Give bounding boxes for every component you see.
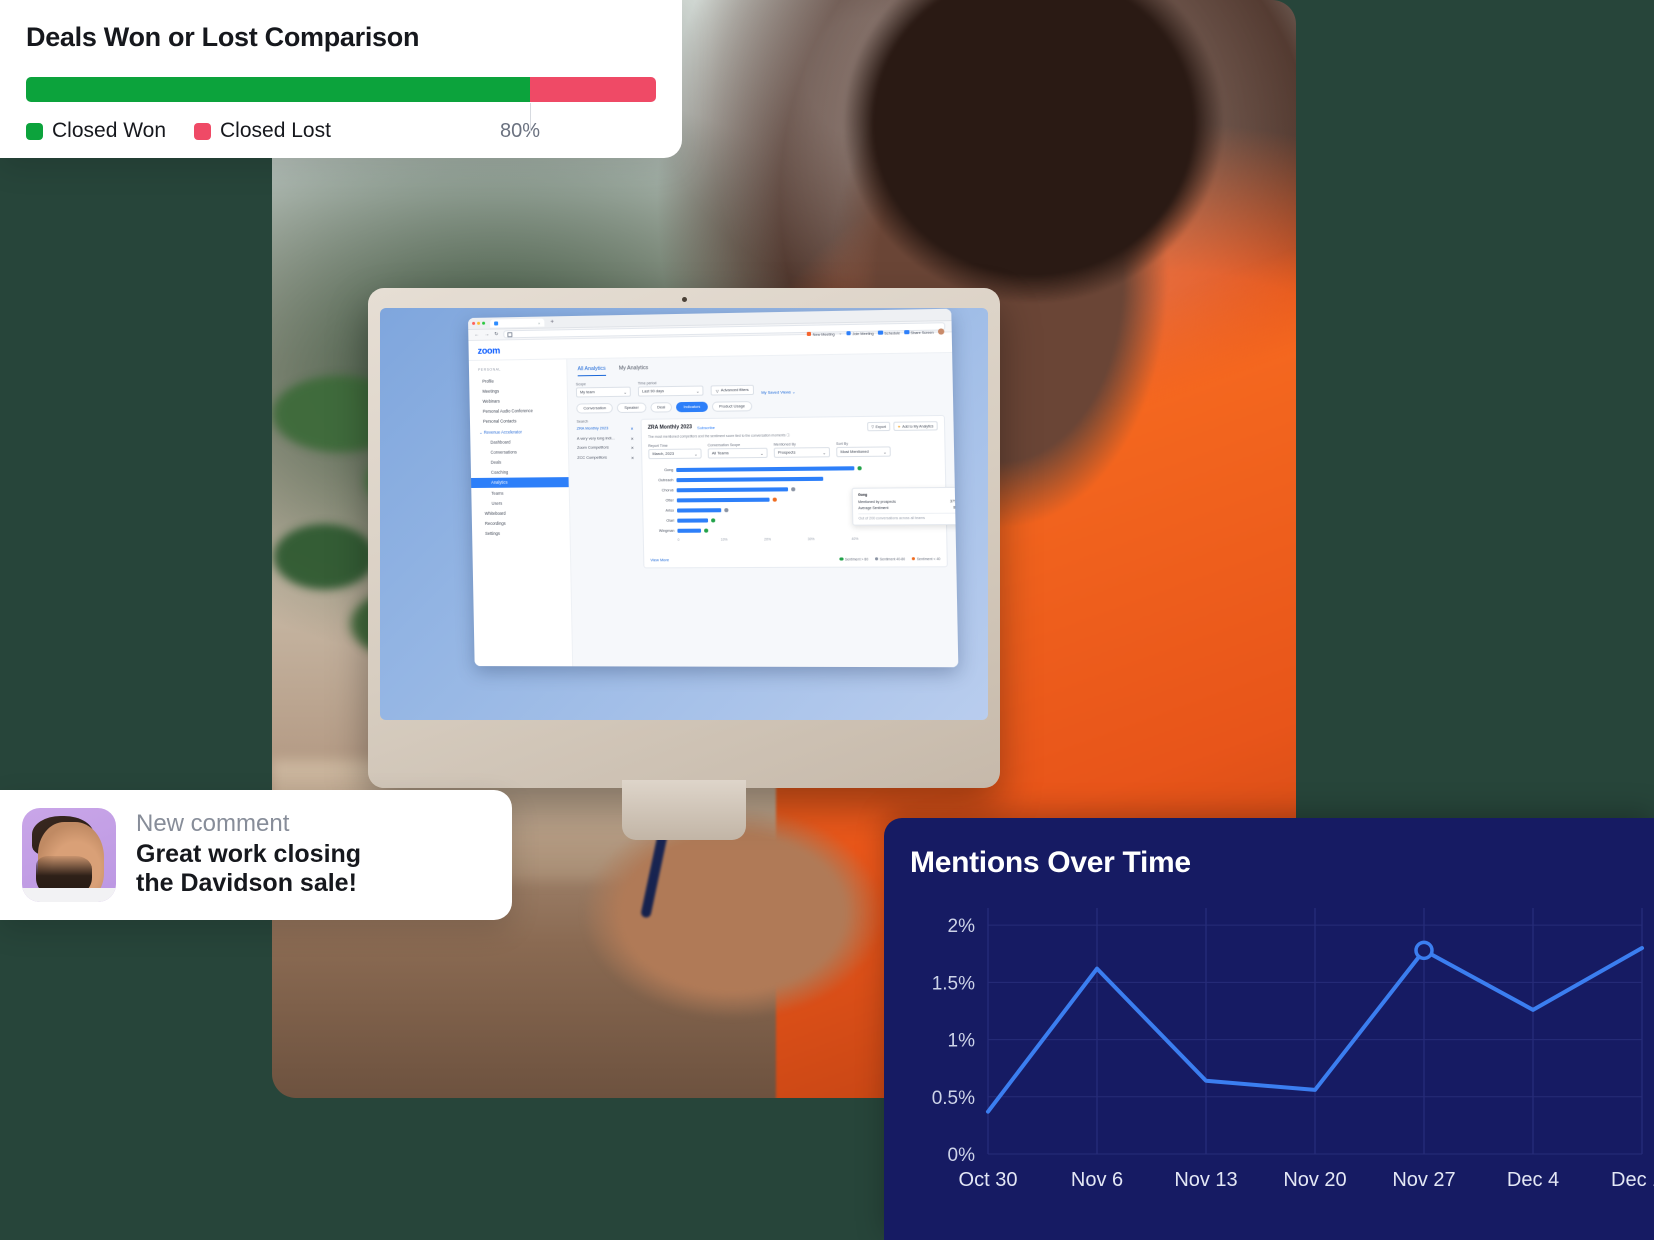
video-icon xyxy=(806,331,811,336)
conversation-scope-control: Conversation Scope All Teams⌄ xyxy=(708,442,768,458)
zoom-app-body: PERSONAL Profile Meetings Webinars Perso… xyxy=(469,353,959,667)
closed-won-segment xyxy=(26,77,530,102)
x-axis-tick-label: Nov 6 xyxy=(1071,1169,1123,1191)
tooltip-label: Mentioned by prospects xyxy=(858,499,896,503)
legend-item-closed-won: Closed Won xyxy=(26,119,166,143)
x-tick: 10% xyxy=(721,538,764,542)
chevron-down-icon: ⌄ xyxy=(696,389,699,394)
plus-square-icon xyxy=(846,331,851,336)
won-percentage-label: 80% xyxy=(500,120,540,143)
sort-by-select[interactable]: Most Mentioned⌄ xyxy=(836,447,891,458)
sidebar-group-label: Revenue Accelerator xyxy=(484,429,522,434)
closed-lost-segment xyxy=(530,77,656,102)
conversation-scope-label: Conversation Scope xyxy=(708,442,768,447)
percentage-tick-line xyxy=(530,103,531,133)
bar-fill[interactable] xyxy=(677,498,770,503)
quick-action-join-meeting[interactable]: Join Meeting xyxy=(846,330,874,336)
sort-by-control: Sort By Most Mentioned⌄ xyxy=(836,441,891,457)
bar-fill[interactable] xyxy=(676,477,823,483)
x-axis-tick-label: Nov 13 xyxy=(1174,1169,1237,1191)
time-period-value: Last 90 days xyxy=(642,390,664,394)
category-chips: Conversation Speaker Deal Indicators Pro… xyxy=(576,399,945,414)
bar-fill[interactable] xyxy=(677,518,708,523)
legend-dot-green xyxy=(840,557,844,560)
forward-icon[interactable]: → xyxy=(484,332,489,338)
chip-conversation[interactable]: Conversation xyxy=(576,403,613,414)
reload-icon[interactable]: ↻ xyxy=(494,331,498,337)
y-axis-tick-label: 0% xyxy=(948,1145,976,1166)
report-controls: Report Time March, 2023⌄ Conversation Sc… xyxy=(648,440,938,459)
tooltip-title: Gong xyxy=(858,492,957,497)
saved-views-link[interactable]: My Saved Views ⌄ xyxy=(761,387,795,396)
chip-indicators[interactable]: Indicators xyxy=(676,402,707,413)
bar-label: Gong xyxy=(649,468,677,472)
quick-action-share-screen[interactable]: Share Screen xyxy=(904,329,934,335)
avatar-shirt xyxy=(22,888,116,902)
sidebar: PERSONAL Profile Meetings Webinars Perso… xyxy=(469,359,573,667)
sidebar-item-whiteboard[interactable]: Whiteboard xyxy=(472,508,570,519)
mentions-line-chart-svg: 0%0.5%1%1.5%2%Oct 30Nov 6Nov 13Nov 20Nov… xyxy=(910,898,1654,1198)
mentions-over-time-card: Mentions Over Time 0%0.5%1%1.5%2%Oct 30N… xyxy=(884,818,1654,1240)
filter-icon: ▽ xyxy=(716,388,719,393)
sidebar-item-recordings[interactable]: Recordings xyxy=(472,518,570,529)
y-axis-tick-label: 1.5% xyxy=(932,973,975,994)
tooltip-row: Mentioned by prospects37% xyxy=(858,499,957,504)
won-lost-progress-bar xyxy=(26,77,656,102)
bar-label: Olari xyxy=(650,519,678,523)
mentioned-by-control: Mentioned By Prospects⌄ xyxy=(774,442,830,458)
browser-tab[interactable]: × xyxy=(490,318,544,327)
bar-fill[interactable] xyxy=(676,466,854,472)
comment-text-block: New comment Great work closing the David… xyxy=(136,811,361,899)
chevron-down-icon: ⌄ xyxy=(623,390,626,395)
x-tick: 30% xyxy=(808,537,852,541)
saved-search-item-long[interactable]: A very very long indi...✕ xyxy=(577,436,634,442)
report-actions: ▽Export ★Add to My Analytics xyxy=(867,422,938,432)
sentiment-dot xyxy=(857,466,861,470)
window-minimize-icon[interactable] xyxy=(477,322,480,325)
x-tick: 20% xyxy=(764,537,808,541)
desktop-monitor: × + ← → ↻ zoom New Meeting ⌄ Join Meetin… xyxy=(368,288,1000,788)
saved-search-item-zcc-competitors[interactable]: ZCC Competitors✕ xyxy=(577,455,634,461)
x-axis-tick-label: Dec 4 xyxy=(1507,1169,1559,1191)
remove-icon[interactable]: ✕ xyxy=(631,455,634,460)
scope-select[interactable]: My team⌄ xyxy=(576,387,631,398)
subscribe-link[interactable]: Subscribe xyxy=(697,425,715,430)
bar-fill[interactable] xyxy=(677,487,788,492)
quick-action-schedule[interactable]: Schedule xyxy=(878,330,900,336)
bar-label: Chorus xyxy=(649,488,677,492)
chevron-down-icon: ⌄ xyxy=(694,451,697,456)
time-period-label: Time period xyxy=(638,380,704,385)
new-meeting-caret[interactable]: ⌄ xyxy=(839,331,842,335)
sentiment-dot xyxy=(791,487,795,491)
view-more-link[interactable]: View More xyxy=(650,557,669,562)
star-icon: ★ xyxy=(897,425,900,429)
zoom-logo: zoom xyxy=(478,345,501,355)
saved-views-label: My Saved Views xyxy=(761,390,791,396)
share-icon xyxy=(904,330,909,335)
chevron-down-icon: ⌄ xyxy=(883,449,886,454)
legend-swatch-red xyxy=(194,123,211,140)
bar-fill[interactable] xyxy=(677,508,721,513)
legend-item-low: Sentiment < 40 xyxy=(911,557,940,561)
add-to-my-analytics-button[interactable]: ★Add to My Analytics xyxy=(893,422,938,432)
advanced-filters-label: Advanced filters xyxy=(721,388,749,392)
y-axis-tick-label: 0.5% xyxy=(932,1088,975,1109)
bar-tooltip: Gong Mentioned by prospects37% Average S… xyxy=(852,487,959,526)
x-axis-tick-label: Dec 11 xyxy=(1611,1169,1654,1191)
monitor-stand xyxy=(622,780,746,840)
legend-label-closed-won: Closed Won xyxy=(52,119,166,143)
mentioned-by-select[interactable]: Prospects⌄ xyxy=(774,447,830,458)
chip-product-usage[interactable]: Product Usage xyxy=(712,401,753,412)
new-tab-button[interactable]: + xyxy=(550,319,554,325)
chip-deal[interactable]: Deal xyxy=(650,403,672,413)
x-tick: 0 xyxy=(678,538,721,542)
bar-label: Outreach xyxy=(649,478,677,482)
chevron-down-icon: ⌄ xyxy=(822,450,825,455)
tooltip-row: Average Sentiment85 xyxy=(858,506,957,511)
report-time-control: Report Time March, 2023⌄ xyxy=(648,443,702,459)
bar-row: Wingman xyxy=(650,524,940,536)
report-time-select[interactable]: March, 2023⌄ xyxy=(648,449,701,460)
filter-row: Scope My team⌄ Time period Last 90 days⌄… xyxy=(576,377,945,398)
report-description: The most mentioned competitors and the s… xyxy=(648,430,938,439)
sentiment-legend: Sentiment > 80 Sentiment 40-80 Sentiment… xyxy=(840,557,941,562)
bar-fill[interactable] xyxy=(677,529,701,534)
tab-all-analytics[interactable]: All Analytics xyxy=(578,366,606,377)
sidebar-item-settings[interactable]: Settings xyxy=(472,528,570,539)
bar-label: Ariso xyxy=(649,509,677,513)
legend-dot-orange xyxy=(911,557,915,560)
chip-speaker[interactable]: Speaker xyxy=(617,403,646,413)
browser-window[interactable]: × + ← → ↻ zoom New Meeting ⌄ Join Meetin… xyxy=(468,309,958,668)
calendar-icon xyxy=(878,330,883,335)
tooltip-value: 37% xyxy=(950,499,957,503)
saved-search-item-zra-monthly[interactable]: ZRA Monthly 2023✕ xyxy=(577,426,634,432)
time-period-select[interactable]: Last 90 days⌄ xyxy=(638,386,704,397)
window-close-icon[interactable] xyxy=(472,322,475,325)
legend-label-closed-lost: Closed Lost xyxy=(220,119,331,143)
remove-icon[interactable]: ✕ xyxy=(630,436,633,441)
y-axis-tick-label: 2% xyxy=(948,916,976,937)
legend-swatch-green xyxy=(26,123,43,140)
saved-search-panel: Search ZRA Monthly 2023✕ A very very lon… xyxy=(577,419,637,569)
bar-label: Wingman xyxy=(650,529,678,533)
sentiment-dot xyxy=(772,498,776,502)
bar-chart-x-axis: 0 10% 20% 30% 40% xyxy=(678,537,940,542)
mentioned-by-label: Mentioned By xyxy=(774,442,830,447)
sentiment-dot xyxy=(724,508,728,512)
legend-item-high: Sentiment > 80 xyxy=(840,557,869,561)
sentiment-dot xyxy=(711,519,715,523)
window-maximize-icon[interactable] xyxy=(482,322,485,325)
chevron-down-icon: ⌄ xyxy=(760,451,763,456)
comment-body-line-1: Great work closing xyxy=(136,840,361,870)
analytics-tabs: All Analytics My Analytics xyxy=(575,360,944,376)
scope-value: My team xyxy=(580,391,595,395)
tooltip-label: Average Sentiment xyxy=(858,506,888,510)
download-icon: ▽ xyxy=(871,425,874,429)
deals-legend: Closed Won Closed Lost 80% xyxy=(26,119,656,143)
chart-title: Mentions Over Time xyxy=(910,846,1654,880)
report-time-label: Report Time xyxy=(648,443,701,448)
x-tick: 40% xyxy=(852,537,896,541)
legend-item-mid: Sentiment 40-80 xyxy=(874,557,905,561)
time-period-filter: Time period Last 90 days⌄ xyxy=(638,380,704,397)
new-comment-card[interactable]: New comment Great work closing the David… xyxy=(0,790,512,920)
export-button[interactable]: ▽Export xyxy=(867,422,890,432)
bar-label: Otter xyxy=(649,499,677,503)
page-title: Deals Won or Lost Comparison xyxy=(26,22,656,53)
conversation-scope-select[interactable]: All Teams⌄ xyxy=(708,448,768,459)
analytics-main: All Analytics My Analytics Scope My team… xyxy=(567,353,958,667)
avatar[interactable] xyxy=(938,328,944,334)
x-axis-tick-label: Oct 30 xyxy=(959,1169,1018,1191)
deals-comparison-card: Deals Won or Lost Comparison Closed Won … xyxy=(0,0,682,158)
webcam-icon xyxy=(682,297,687,302)
monitor-chin xyxy=(380,724,988,774)
report-title: ZRA Monthly 2023 xyxy=(648,425,692,432)
report-footer: View More Sentiment > 80 Sentiment 40-80… xyxy=(650,556,940,562)
tooltip-value: 85 xyxy=(953,506,957,510)
search-label: Search xyxy=(577,419,634,424)
close-tab-icon[interactable]: × xyxy=(538,320,540,325)
remove-icon[interactable]: ✕ xyxy=(630,426,633,431)
sentiment-dot xyxy=(704,529,708,533)
quick-action-new-meeting[interactable]: New Meeting xyxy=(806,331,834,337)
saved-search-item-zoom-competitors[interactable]: Zoom Competitors✕ xyxy=(577,445,634,451)
tab-my-analytics[interactable]: My Analytics xyxy=(619,365,649,376)
report-card: ZRA Monthly 2023 Subscribe ▽Export ★Add … xyxy=(641,415,948,568)
tooltip-footnote: Out of 200 conversations across all team… xyxy=(858,512,957,520)
monitor-screen: × + ← → ↻ zoom New Meeting ⌄ Join Meetin… xyxy=(380,308,988,720)
highlighted-data-point[interactable] xyxy=(1416,942,1432,958)
sidebar-item-users[interactable]: Users xyxy=(471,497,569,508)
lock-icon xyxy=(508,332,513,337)
x-axis-tick-label: Nov 27 xyxy=(1392,1169,1455,1191)
legend-dot-gray xyxy=(874,557,878,560)
back-icon[interactable]: ← xyxy=(474,332,479,338)
y-axis-tick-label: 1% xyxy=(948,1031,976,1052)
legend-item-closed-lost: Closed Lost xyxy=(194,119,331,143)
sort-by-label: Sort By xyxy=(836,441,891,446)
info-icon[interactable]: ⓘ xyxy=(786,433,790,437)
zoom-favicon xyxy=(494,321,498,325)
x-axis-tick-label: Nov 20 xyxy=(1283,1169,1346,1191)
scope-filter: Scope My team⌄ xyxy=(576,382,631,398)
analytics-columns: Search ZRA Monthly 2023✕ A very very lon… xyxy=(577,415,948,569)
advanced-filters-button[interactable]: ▽Advanced filters xyxy=(711,385,754,396)
mentions-chart: 0%0.5%1%1.5%2%Oct 30Nov 6Nov 13Nov 20Nov… xyxy=(910,898,1654,1198)
avatar xyxy=(22,808,116,902)
comment-body-line-2: the Davidson sale! xyxy=(136,869,361,899)
competitor-bar-chart: Gong Outreach Chorus Otter Ariso Olari W… xyxy=(649,463,941,553)
scope-label: Scope xyxy=(576,382,631,387)
comment-title: New comment xyxy=(136,811,361,837)
remove-icon[interactable]: ✕ xyxy=(631,445,634,450)
